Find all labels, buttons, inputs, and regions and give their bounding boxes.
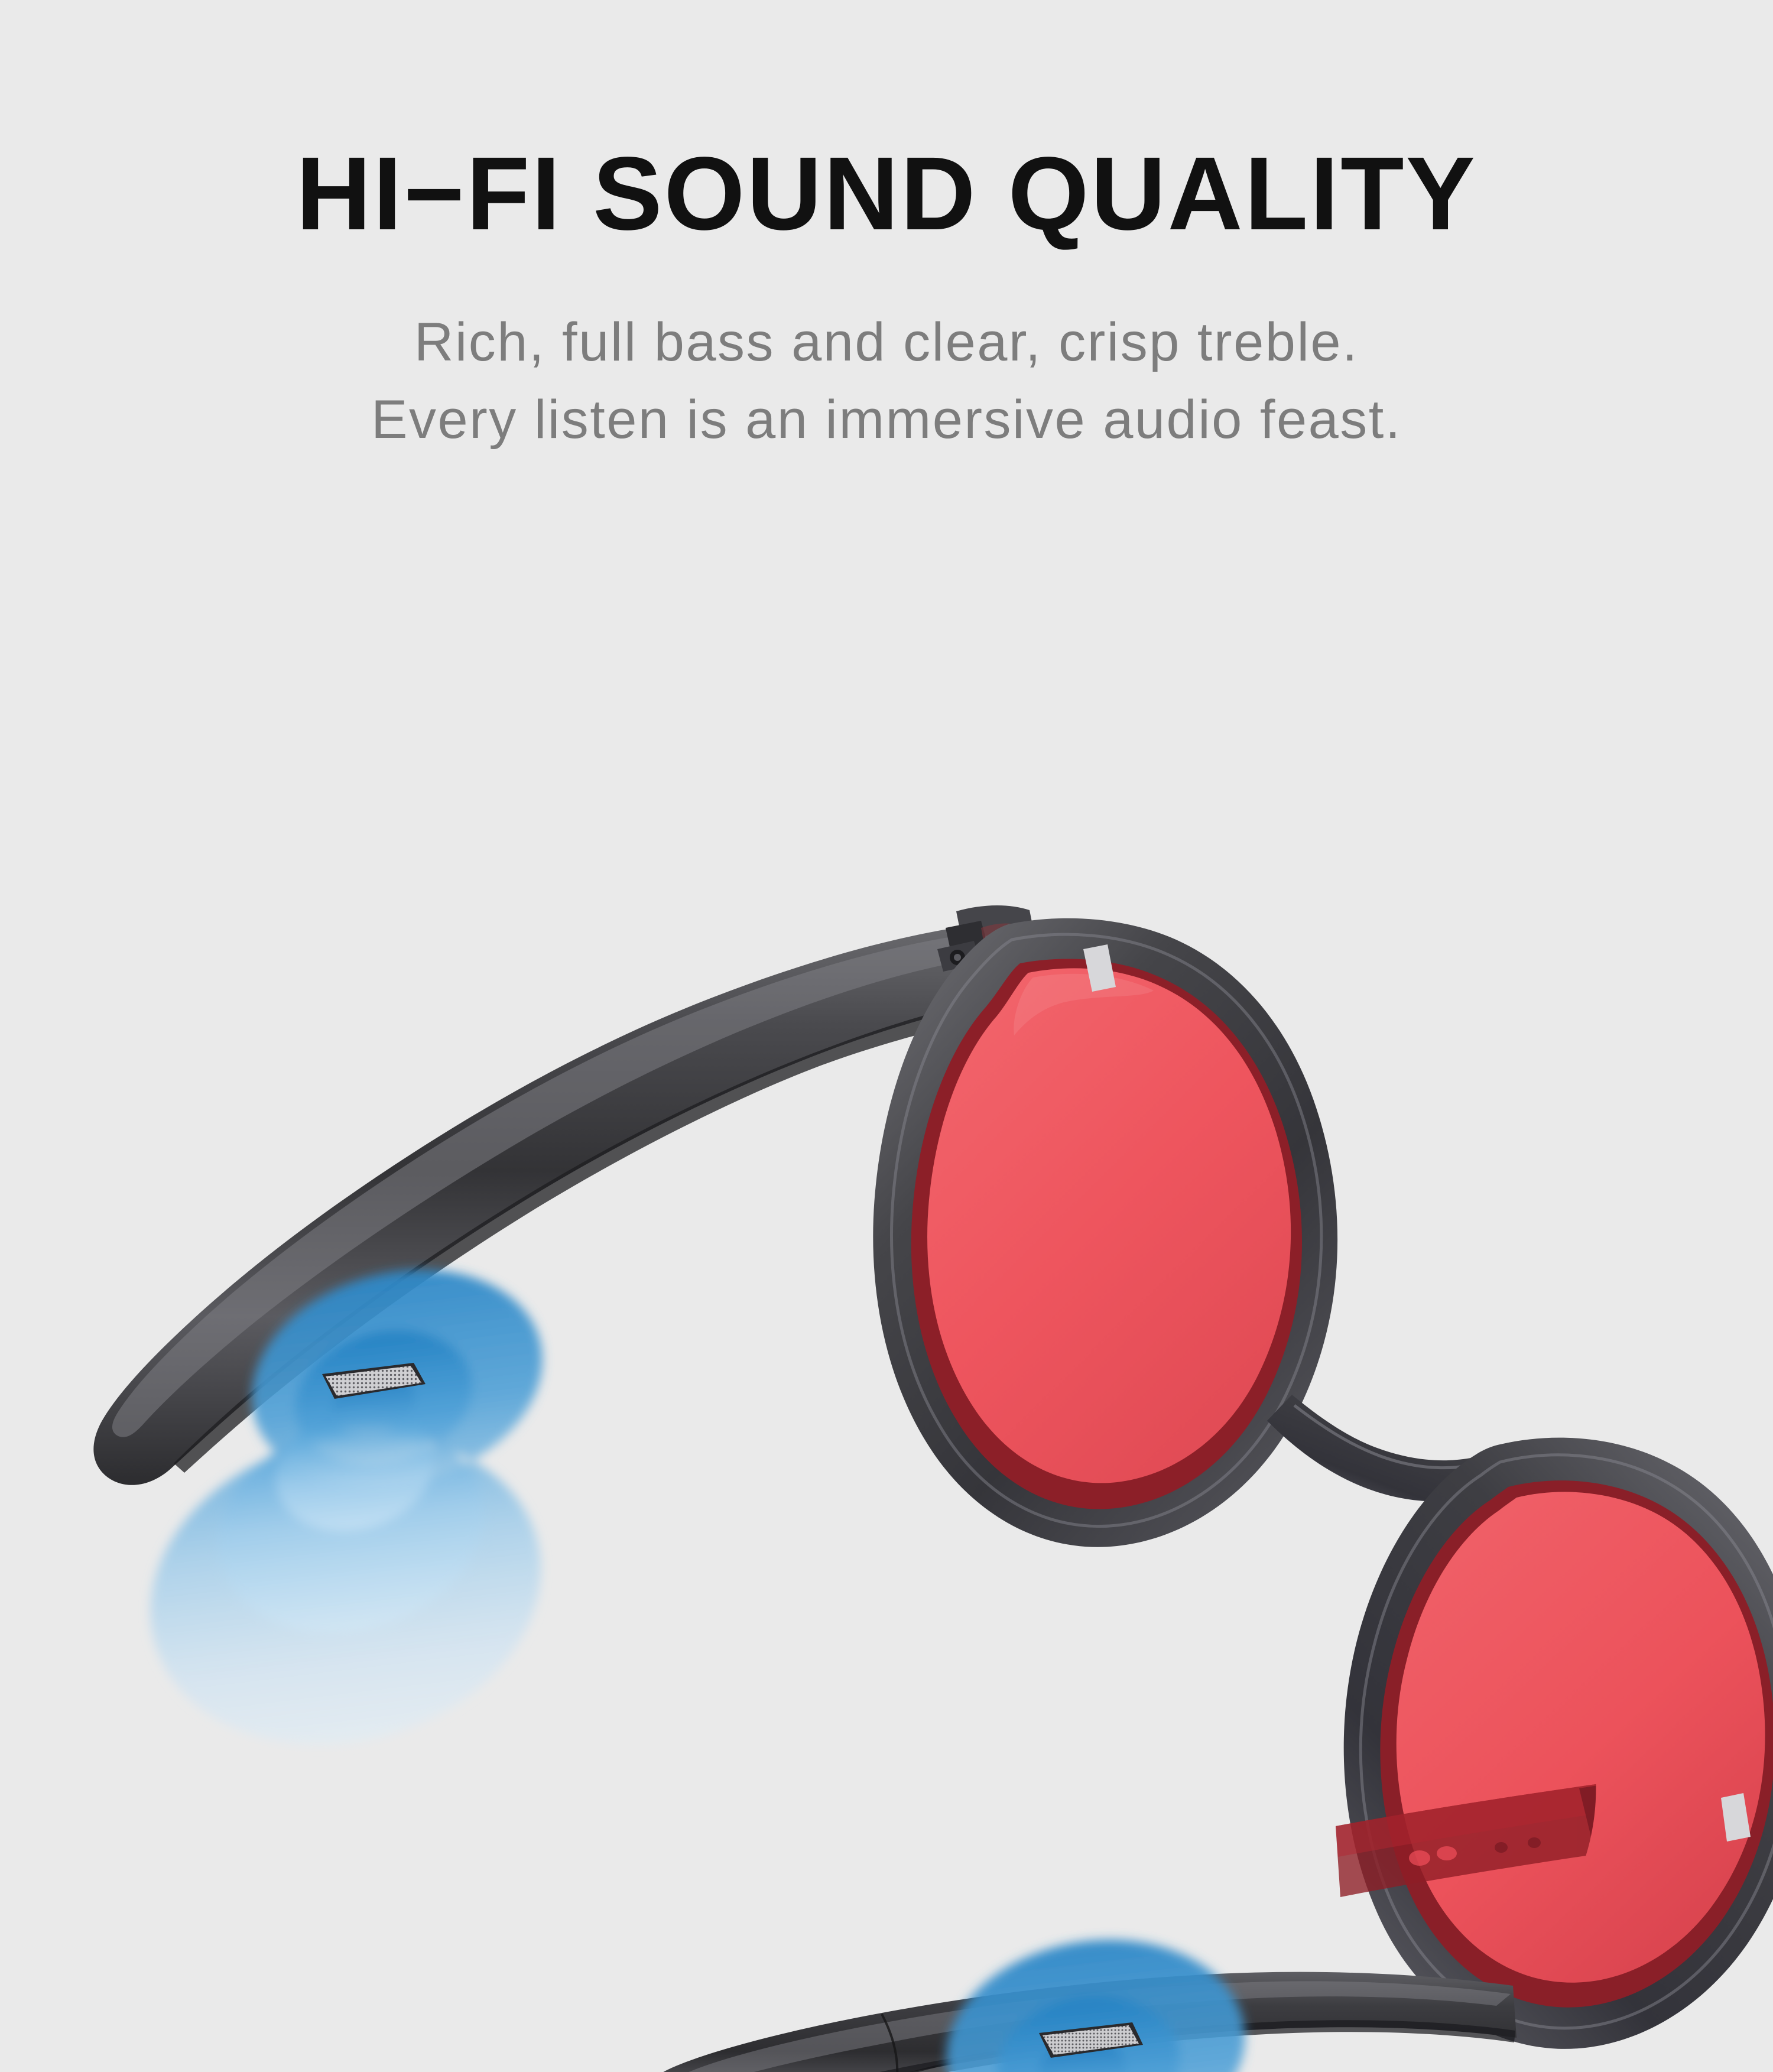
subtitle-line-2: Every listen is an immersive audio feast… [0,381,1773,459]
upper-temple-arm [93,924,1012,1485]
product-image-audio-sunglasses [0,550,1773,2072]
subtitle-line-1: Rich, full bass and clear, crisp treble. [0,304,1773,381]
upper-lens-assembly [873,918,1337,1547]
page-title: HI−FI SOUND QUALITY [0,0,1773,246]
subtitle: Rich, full bass and clear, crisp treble.… [0,246,1773,458]
text-block: HI−FI SOUND QUALITY Rich, full bass and … [0,0,1773,458]
lower-lens-assembly [1336,1438,1773,2049]
product-feature-banner: HI−FI SOUND QUALITY Rich, full bass and … [0,0,1773,2072]
